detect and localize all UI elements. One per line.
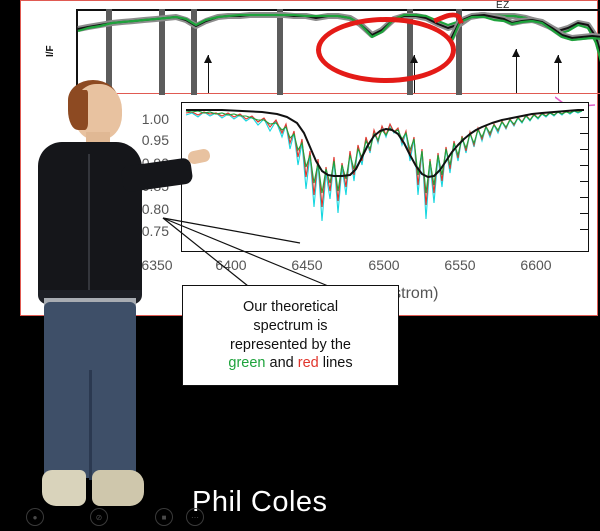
callout-word-red: red [298,355,319,371]
callout-box: Our theoretical spectrum is represented … [182,285,399,386]
presenter-hair-side [68,90,88,130]
callout-line-2: spectrum is [253,318,327,334]
inset-tick [580,229,588,230]
inset-curves [182,103,587,250]
inset-theory-green [186,111,582,193]
callout-text: Our theoretical spectrum is represented … [222,298,358,372]
presenter-figure [18,84,160,516]
inset-tick [580,165,588,166]
inset-xtick: 6550 [430,257,490,273]
feature-arrow [516,49,517,93]
main-ylabel: I/F [45,45,56,57]
inset-tick [580,181,588,182]
stop-icon[interactable]: ■ [155,508,173,526]
presenter-shoe-right [92,470,144,506]
callout-line-3: represented by the [230,337,351,353]
right-lobe-green [451,17,600,44]
callout-word-lines: lines [319,355,353,371]
presenter-name: Phil Coles [192,486,328,519]
inset-xtick: 6500 [354,257,414,273]
presenter-shoe-left [42,470,86,506]
presenter-jacket-zip [88,154,90,294]
callout-word-green: green [228,355,265,371]
main-spectrum-plot: EZ [76,9,600,94]
inset-xtick: 6600 [506,257,566,273]
inset-theory-red [186,110,582,207]
pause-icon[interactable]: ⊘ [90,508,108,526]
more-icon[interactable]: ⋯ [186,508,204,526]
callout-word-and: and [266,355,298,371]
feature-arrow [558,55,559,93]
inset-tick [580,133,588,134]
inset-tick [580,149,588,150]
inset-xtick: 6400 [201,257,261,273]
presentation-video-frame: EZ [0,0,600,531]
callout-line-1: Our theoretical [243,299,338,315]
inset-xtick: 6450 [277,257,337,273]
red-highlight-circle [316,17,456,83]
feature-arrow [208,55,209,93]
inset-tick [580,197,588,198]
inset-zoom-plot [181,102,589,252]
inset-tick [580,117,588,118]
inset-tick [580,213,588,214]
presenter-leg-seam [89,370,92,480]
record-icon[interactable]: ● [26,508,44,526]
inset-observed-cyan [186,111,582,221]
